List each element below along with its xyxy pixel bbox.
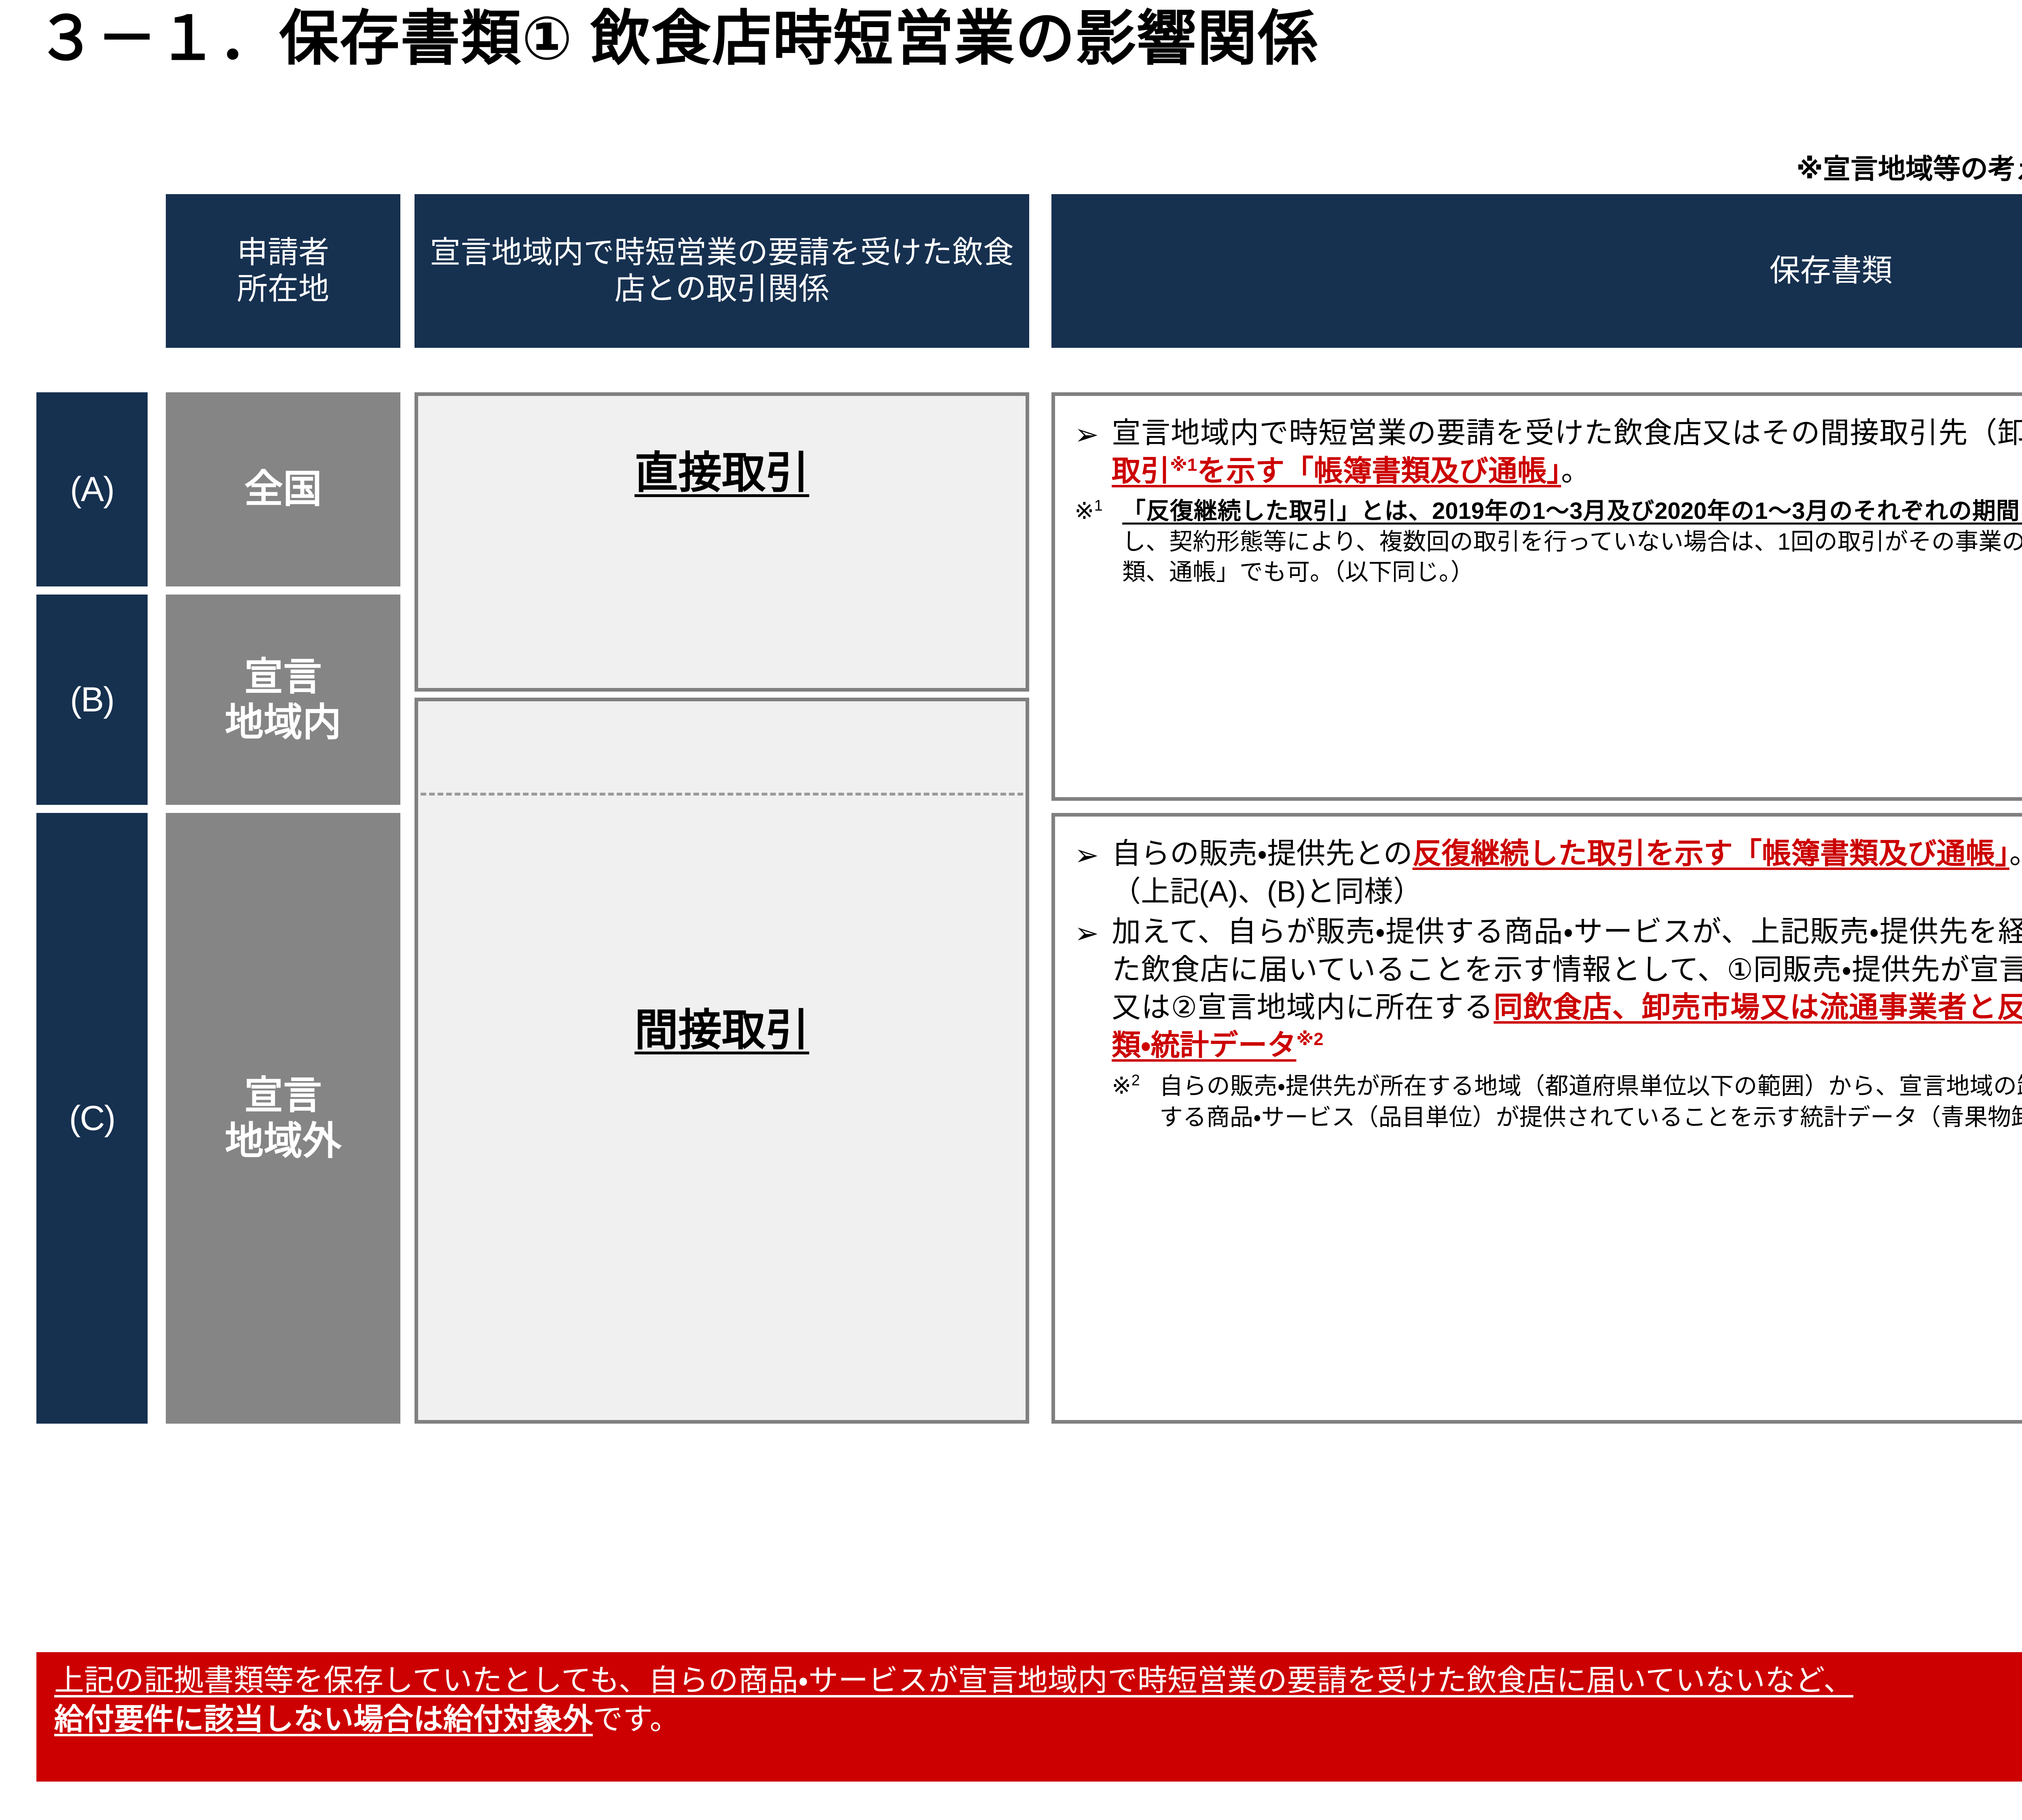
- header-transaction-relation-label: 宣言地域内で時短営業の要請を受けた飲食店との取引関係: [427, 235, 1017, 307]
- cell-transaction-indirect: 間接取引: [415, 698, 1029, 1424]
- footnote-1-bold: 「反復継続した取引」とは、2019年の1〜3月及び2020年の1〜3月のそれぞれ…: [1122, 498, 2022, 524]
- bullet-arrow-icon: ➢: [1074, 415, 1112, 453]
- bullet-text-tail: 。: [1561, 455, 1590, 487]
- row-tag-a: (A): [36, 392, 148, 586]
- cell-location-b: 宣言地域内: [166, 595, 400, 805]
- bullet-text: 宣言地域内で時短営業の要請を受けた飲食店又はその間接取引先（卸売市場、流通事業者…: [1112, 415, 2022, 490]
- cell-location-b-label: 宣言地域内: [225, 654, 341, 746]
- bullet-text-emphasis: 反復継続した取引を示す「帳簿書類及び通帳」: [1413, 838, 2009, 870]
- footnote-2: ※2 自らの販売・提供先が所在する地域（都道府県単位以下の範囲）から、宣言地域の…: [1112, 1071, 2022, 1133]
- row-tag-a-label: (A): [70, 470, 114, 510]
- cell-location-a: 全国: [166, 392, 400, 586]
- footnote-2-mark: ※2: [1112, 1071, 1159, 1101]
- header-documents-label: 保存書類: [1770, 253, 1893, 289]
- page-title: ３－１．保存書類① 飲食店時短営業の影響関係: [36, 7, 1318, 70]
- row-tag-c-label: (C): [69, 1098, 115, 1139]
- warning-banner-line2-tail: です。: [593, 1702, 680, 1736]
- header-transaction-relation: 宣言地域内で時短営業の要請を受けた飲食店との取引関係: [415, 194, 1029, 348]
- header-applicant-location-label: 申請者所在地: [237, 235, 329, 307]
- warning-banner-line1: 上記の証拠書類等を保存していたとしても、自らの商品・サービスが宣言地域内で時短営…: [54, 1663, 1853, 1697]
- footnote-ref-1: ※1: [1170, 455, 1197, 475]
- footnote-1-mark: ※1: [1074, 496, 1122, 526]
- cell-location-c: 宣言地域外: [166, 813, 400, 1424]
- footnote-1: ※1 「反復継続した取引」とは、2019年の1〜3月及び2020年の1〜3月のそ…: [1074, 496, 2022, 587]
- bullet-item: ➢ 宣言地域内で時短営業の要請を受けた飲食店又はその間接取引先（卸売市場、流通事…: [1074, 415, 2022, 490]
- footnote-2-body: 自らの販売・提供先が所在する地域（都道府県単位以下の範囲）から、宣言地域の卸売市…: [1159, 1071, 2022, 1133]
- header-documents: 保存書類: [1051, 194, 2022, 348]
- bullet-item: ➢ 自らの販売・提供先との反復継続した取引を示す「帳簿書類及び通帳」。 （上記(…: [1074, 835, 2022, 911]
- documents-box-c: ➢ 自らの販売・提供先との反復継続した取引を示す「帳簿書類及び通帳」。 （上記(…: [1051, 813, 2022, 1424]
- bullet-text-plain: 宣言地域内で時短営業の要請を受けた飲食店又はその間接取引先（卸売市場、流通事業者…: [1112, 417, 2022, 449]
- row-tag-c: (C): [36, 813, 148, 1424]
- documents-box-ab: ➢ 宣言地域内で時短営業の要請を受けた飲食店又はその間接取引先（卸売市場、流通事…: [1051, 392, 2022, 801]
- row-tag-b-label: (B): [70, 680, 114, 720]
- bullet-text: 自らの販売・提供先との反復継続した取引を示す「帳簿書類及び通帳」。 （上記(A)…: [1112, 835, 2022, 911]
- cell-transaction-direct: 直接取引: [415, 392, 1029, 692]
- transaction-dashed-divider: [421, 793, 1023, 796]
- row-tag-b: (B): [36, 595, 148, 805]
- bullet-item: ➢ 加えて、自らが販売・提供する商品・サービスが、上記販売・提供先を経由して、宣…: [1074, 913, 2022, 1064]
- footnote-ref-2: ※2: [1296, 1029, 1323, 1049]
- transaction-indirect-label: 間接取引: [635, 995, 809, 1058]
- emphasis-part-2: を示す「帳簿書類及び通帳」: [1197, 455, 1561, 487]
- header-applicant-location: 申請者所在地: [166, 194, 400, 348]
- warning-banner-line2-bold: 給付要件に該当しない場合は給付対象外: [54, 1702, 593, 1736]
- bullet-text-tail: 。: [2009, 838, 2022, 870]
- bullet-arrow-icon: ➢: [1074, 835, 1112, 874]
- bullet-arrow-icon: ➢: [1074, 913, 1112, 952]
- bullet-text-plain: 自らの販売・提供先との: [1112, 838, 1413, 870]
- cell-location-a-label: 全国: [244, 466, 322, 512]
- transaction-direct-label: 直接取引: [635, 438, 809, 501]
- reference-note: ※宣言地域等の考え方、保存書類の取扱いについては8ページ参照: [1796, 146, 2022, 186]
- cell-location-c-label: 宣言地域外: [225, 1073, 341, 1164]
- bullet-text: 加えて、自らが販売・提供する商品・サービスが、上記販売・提供先を経由して、宣言地…: [1112, 913, 2022, 1064]
- bullet2-plain-a: 加えて、自らが販売・提供する商品・サービスが、上記販売・提供先を経由して、宣言地…: [1112, 916, 2022, 986]
- warning-banner: 上記の証拠書類等を保存していたとしても、自らの商品・サービスが宣言地域内で時短営…: [36, 1652, 2022, 1782]
- table-header-row: 申請者所在地 宣言地域内で時短営業の要請を受けた飲食店との取引関係 保存書類: [0, 190, 2022, 348]
- footnote-1-body: 「反復継続した取引」とは、2019年の1〜3月及び2020年の1〜3月のそれぞれ…: [1122, 496, 2022, 587]
- bullet-text-line2: （上記(A)、(B)と同様）: [1112, 876, 1422, 908]
